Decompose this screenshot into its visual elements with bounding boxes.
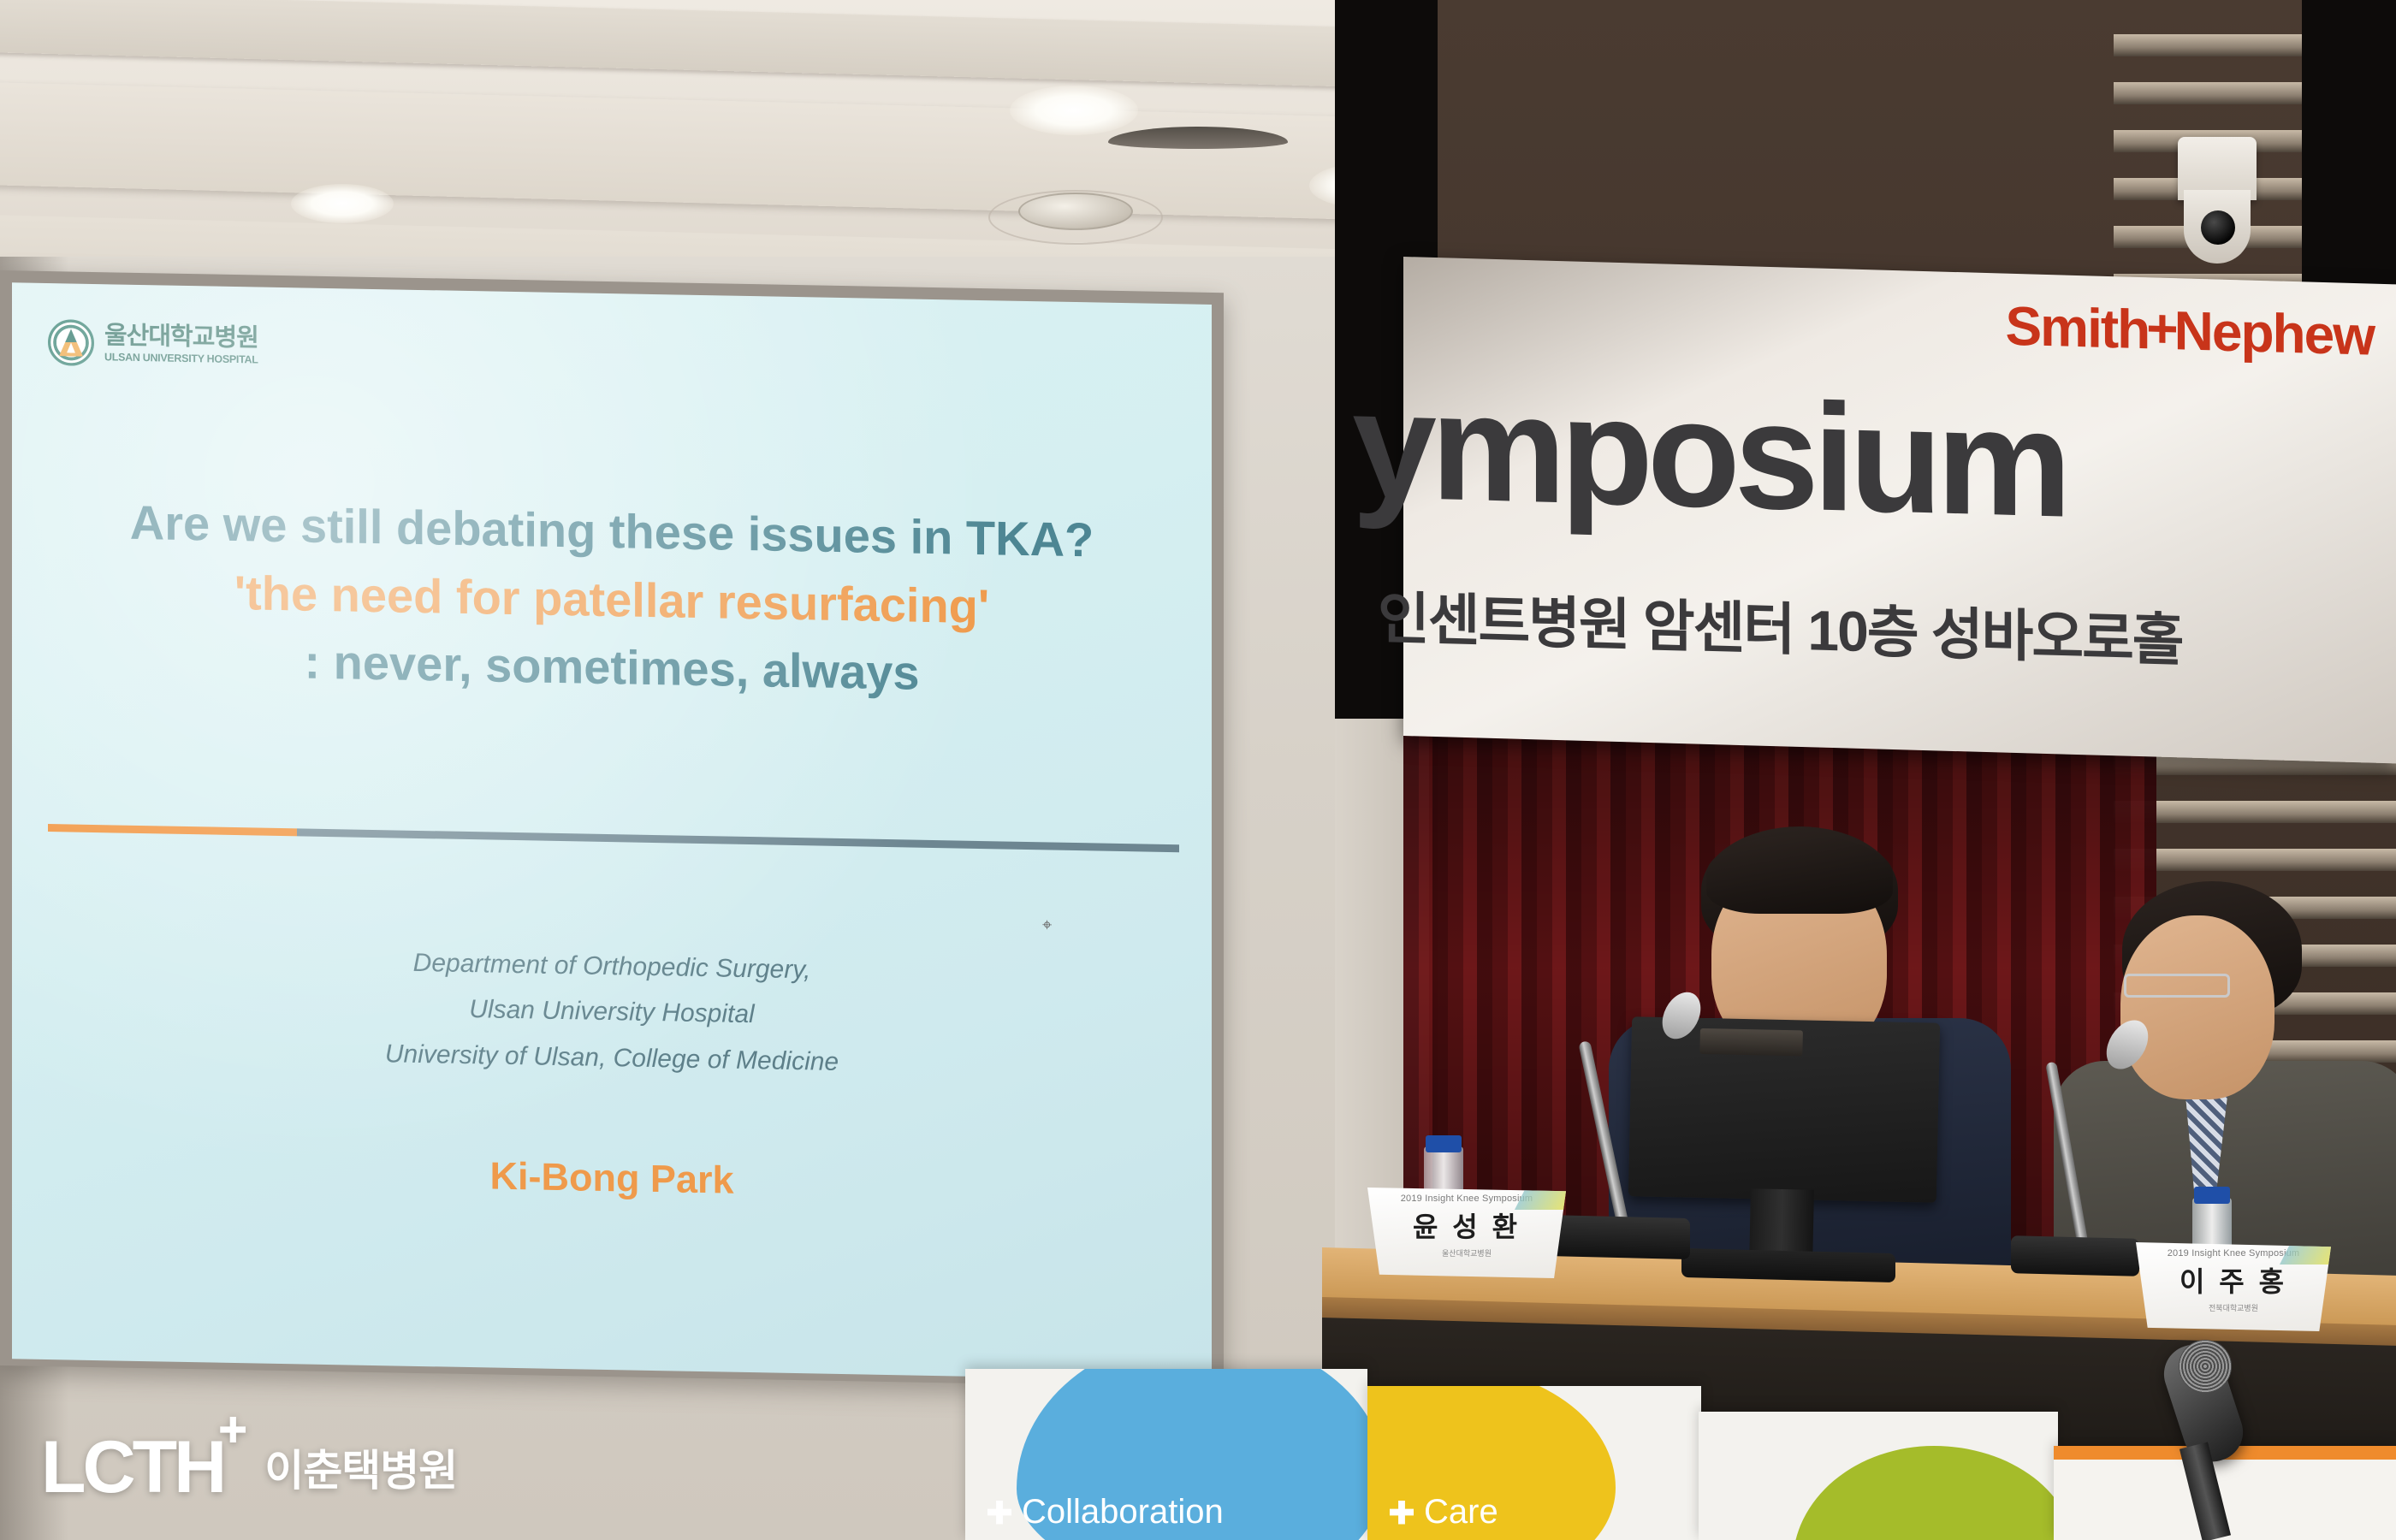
smith-nephew-logo: Smith+Nephew	[2005, 294, 2374, 368]
standee-green-blob	[1793, 1446, 2058, 1540]
water-bottle-cap-icon	[1426, 1135, 1462, 1152]
nameplate-left-affiliation: 울산대학교병원	[1367, 1247, 1566, 1259]
standee-collaboration-label-wrap: Collaboration	[987, 1493, 1224, 1531]
medical-cross-icon	[987, 1501, 1011, 1525]
nameplate-left: 2019 Insight Knee Symposium 윤 성 환 울산대학교병…	[1367, 1188, 1566, 1278]
standee-collaboration: Collaboration	[965, 1369, 1367, 1540]
standee-care-label: Care	[1424, 1493, 1498, 1531]
ceiling-downlight-icon	[1010, 86, 1138, 135]
security-camera-lens-icon	[2201, 210, 2235, 245]
projection-screen-frame: 울산대학교병원 ULSAN UNIVERSITY HOSPITAL Are we…	[0, 270, 1224, 1388]
lcth-mark-text: LCTH	[41, 1426, 223, 1508]
nameplate-right: 2019 Insight Knee Symposium 이 주 홍 전북대학교병…	[2136, 1242, 2331, 1331]
monitor-stand-base	[1681, 1248, 1895, 1282]
panelist-right-glasses-icon	[2124, 974, 2230, 998]
lcth-wordmark: LCTH	[41, 1430, 223, 1504]
lecture-hall-photo: 울산대학교병원 ULSAN UNIVERSITY HOSPITAL Are we…	[0, 0, 2396, 1540]
standee-care-label-wrap: Care	[1390, 1493, 1498, 1531]
panelist-left-fringe	[1706, 835, 1893, 914]
microphone-base	[1545, 1215, 1690, 1259]
nameplate-left-name: 윤 성 환	[1367, 1205, 1566, 1245]
hospital-logo-korean: 이춘택병원	[264, 1436, 457, 1498]
symposium-banner: Smith+Nephew ymposium 인센트병원 암센터 10층 성바오로…	[1403, 257, 2396, 763]
screen-glare	[12, 282, 1212, 1381]
standee-care: Care	[1367, 1386, 1701, 1540]
panelist-right-face	[2120, 915, 2274, 1099]
water-bottle-cap-icon-right	[2194, 1187, 2230, 1204]
banner-venue-text: 인센트병원 암센터 10층 성바오로홀	[1378, 572, 2183, 677]
medical-cross-icon	[1390, 1501, 1414, 1525]
projected-slide: 울산대학교병원 ULSAN UNIVERSITY HOSPITAL Are we…	[12, 282, 1212, 1381]
brand-smith: Smith	[2005, 295, 2149, 361]
hospital-logo: LCTH 이춘택병원	[41, 1430, 457, 1504]
microphone-base-right	[2011, 1235, 2139, 1276]
nameplate-right-name: 이 주 홍	[2136, 1260, 2331, 1300]
banner-event-word: ymposium	[1352, 356, 2066, 551]
brand-nephew: Nephew	[2174, 299, 2374, 367]
ceiling-downlight-icon	[291, 184, 394, 223]
computer-monitor-icon[interactable]	[1628, 1016, 1940, 1202]
nameplate-right-affiliation: 전북대학교병원	[2136, 1302, 2331, 1313]
standee-green	[1699, 1412, 2058, 1540]
brand-plus-icon: +	[2146, 296, 2176, 360]
ceiling-speaker-icon	[1018, 192, 1133, 230]
standee-collaboration-label: Collaboration	[1022, 1493, 1224, 1531]
